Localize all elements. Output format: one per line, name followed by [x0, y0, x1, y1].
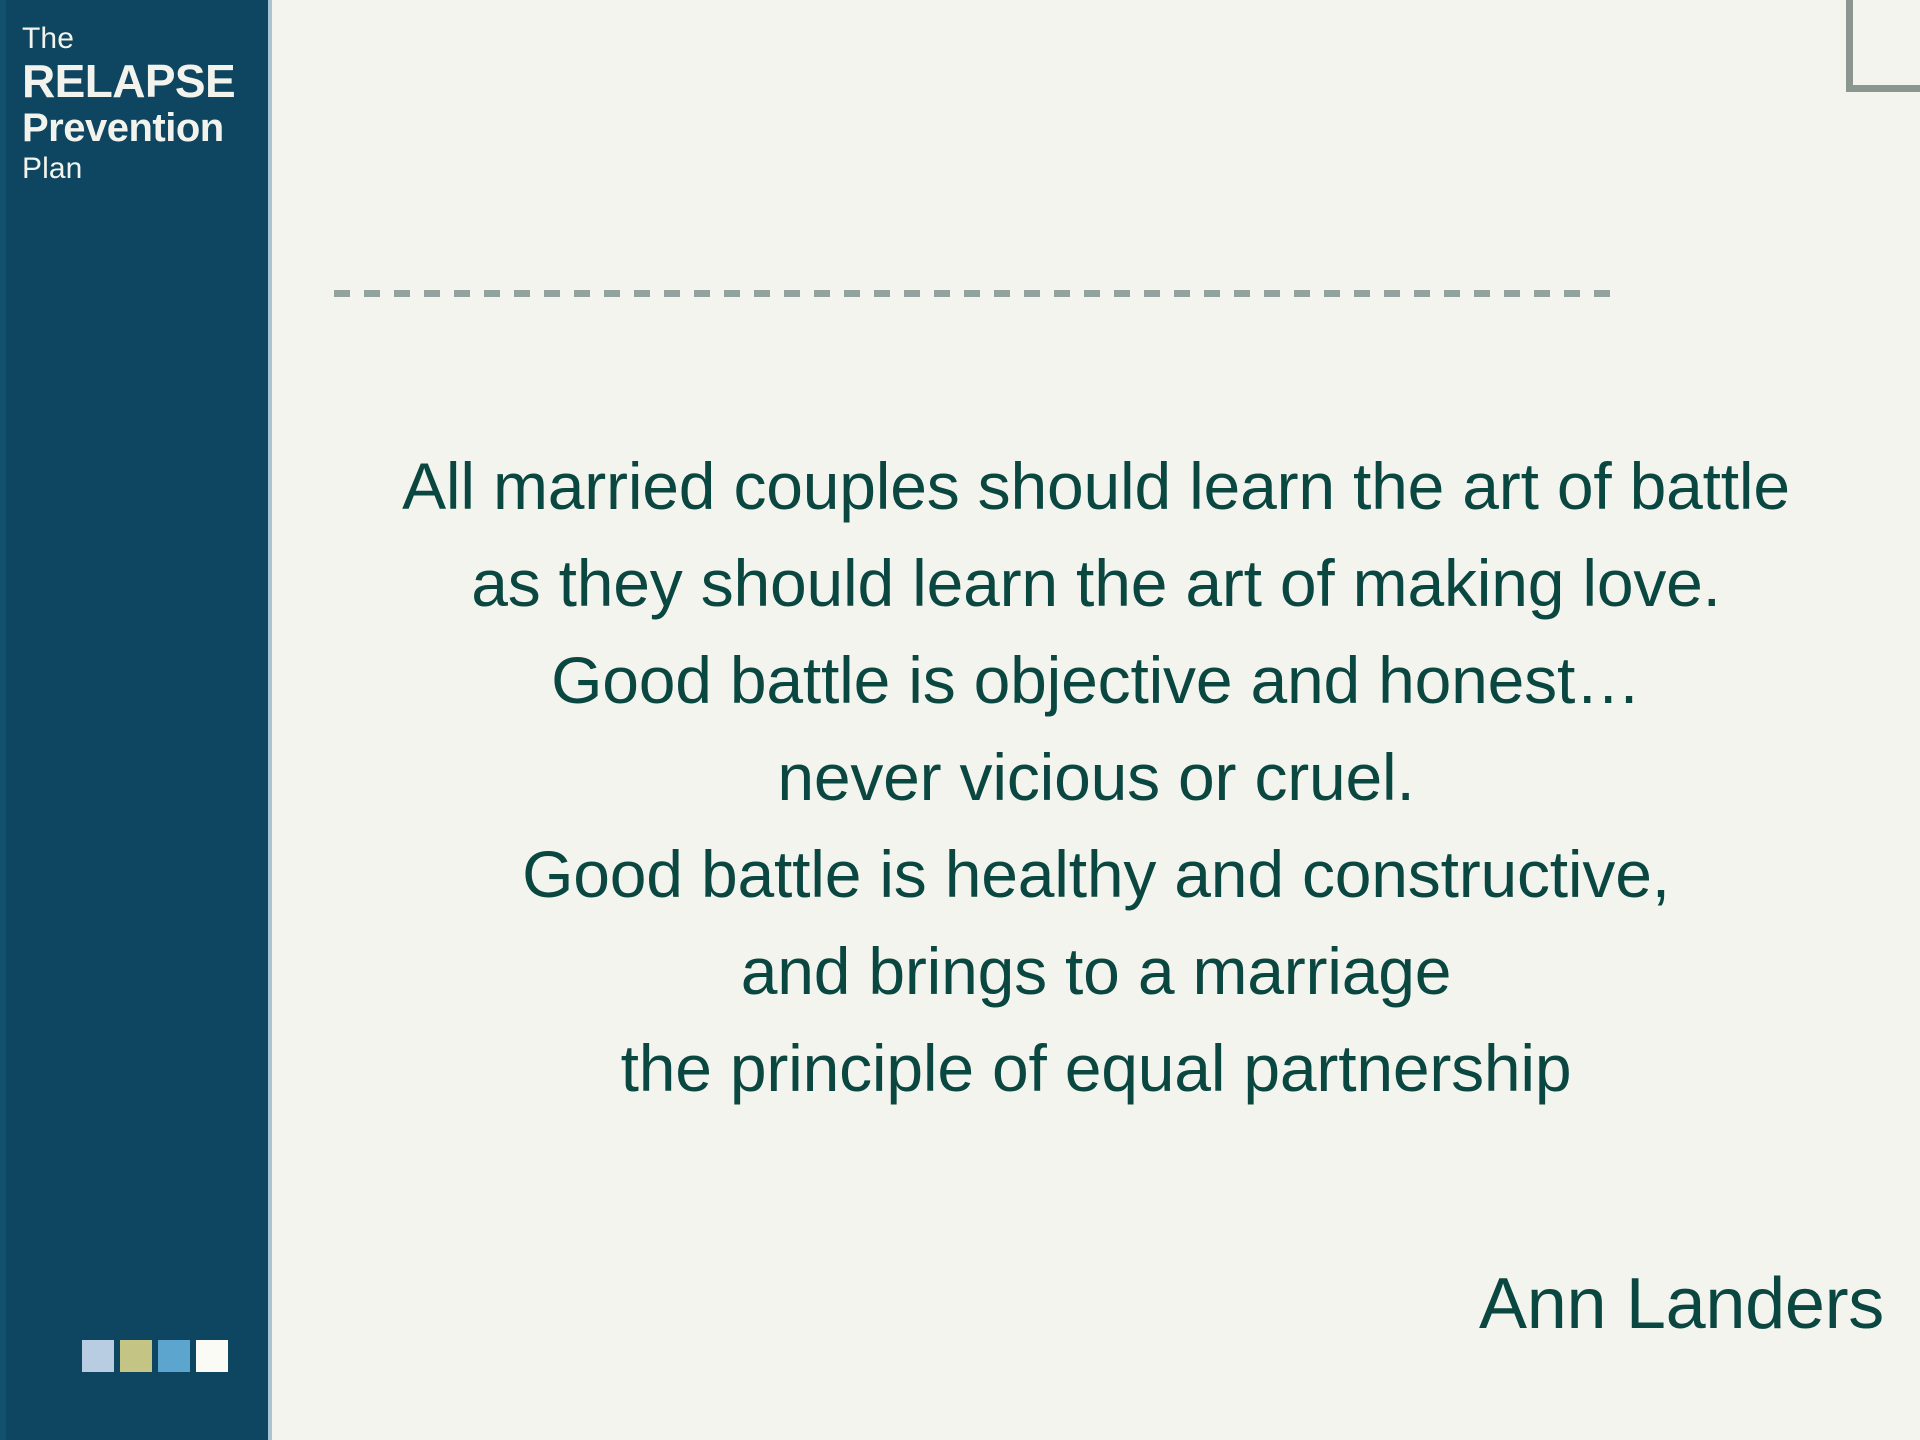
quote-line: All married couples should learn the art…	[272, 438, 1920, 535]
logo-line-the: The	[22, 24, 252, 54]
quote-line: never vicious or cruel.	[272, 729, 1920, 826]
logo-line-relapse: RELAPSE	[22, 58, 252, 105]
quote-text: All married couples should learn the art…	[272, 438, 1920, 1117]
quote-line: and brings to a marriage	[272, 923, 1920, 1020]
logo-line-prevention: Prevention	[22, 107, 252, 150]
swatch-light-blue	[82, 1340, 114, 1372]
swatch-row	[82, 1340, 228, 1372]
brand-logo: The RELAPSE Prevention Plan	[22, 24, 252, 184]
sidebar-inner-edge	[0, 0, 6, 1440]
dashed-divider	[334, 290, 1619, 297]
quote-line: Good battle is healthy and constructive,	[272, 826, 1920, 923]
quote-attribution: Ann Landers	[1479, 1268, 1884, 1340]
quote-line: as they should learn the art of making l…	[272, 535, 1920, 632]
slide-canvas: The RELAPSE Prevention Plan All married …	[0, 0, 1920, 1440]
sidebar: The RELAPSE Prevention Plan	[0, 0, 272, 1440]
logo-line-plan: Plan	[22, 154, 252, 184]
swatch-olive	[120, 1340, 152, 1372]
swatch-white	[196, 1340, 228, 1372]
corner-bracket-decoration	[1846, 0, 1920, 92]
swatch-steel-blue	[158, 1340, 190, 1372]
quote-line: the principle of equal partnership	[272, 1020, 1920, 1117]
quote-line: Good battle is objective and honest…	[272, 632, 1920, 729]
